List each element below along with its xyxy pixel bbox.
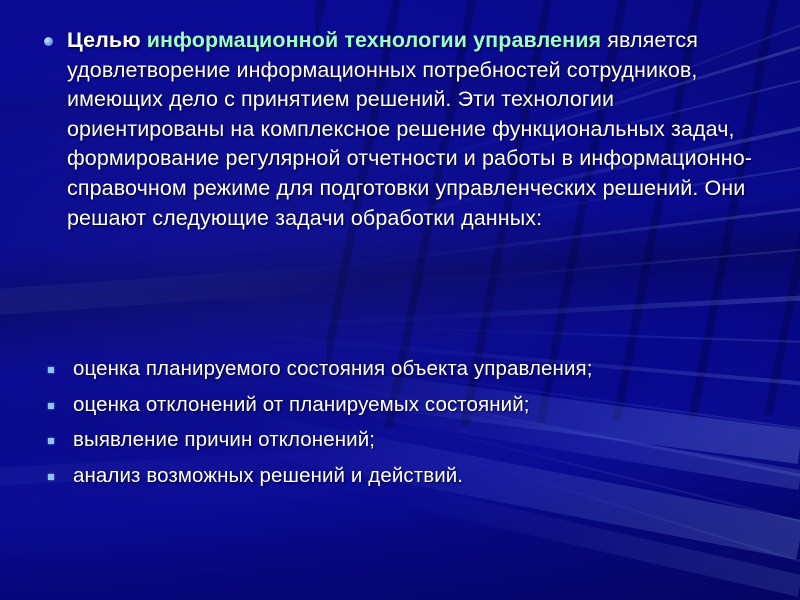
square-bullet-icon: [48, 438, 54, 444]
main-paragraph-text: Целью информационной технологии управлен…: [67, 26, 756, 233]
list-item: анализ возможных решений и действий.: [48, 463, 768, 489]
slide-content: Целью информационной технологии управлен…: [0, 0, 800, 600]
paragraph-lead-white: Целью: [67, 28, 147, 52]
list-item: оценка планируемого состояния объекта уп…: [48, 356, 768, 382]
paragraph-lead-highlight: информационной технологии управления: [147, 28, 601, 52]
list-item: выявление причин отклонений;: [48, 427, 768, 453]
presentation-slide: Целью информационной технологии управлен…: [0, 0, 800, 600]
round-bullet-icon: [44, 37, 53, 46]
list-item: оценка отклонений от планируемых состоян…: [48, 392, 768, 418]
square-bullet-icon: [48, 367, 54, 373]
list-item-label: выявление причин отклонений;: [73, 427, 375, 453]
paragraph-body: является удовлетворение информационных п…: [67, 28, 752, 230]
square-bullet-icon: [48, 403, 54, 409]
square-bullet-icon: [48, 474, 54, 480]
list-item-label: оценка планируемого состояния объекта уп…: [73, 356, 593, 382]
tasks-list: оценка планируемого состояния объекта уп…: [48, 356, 768, 498]
list-item-label: оценка отклонений от планируемых состоян…: [73, 392, 530, 418]
list-item-label: анализ возможных решений и действий.: [73, 463, 463, 489]
main-paragraph-block: Целью информационной технологии управлен…: [44, 26, 756, 233]
